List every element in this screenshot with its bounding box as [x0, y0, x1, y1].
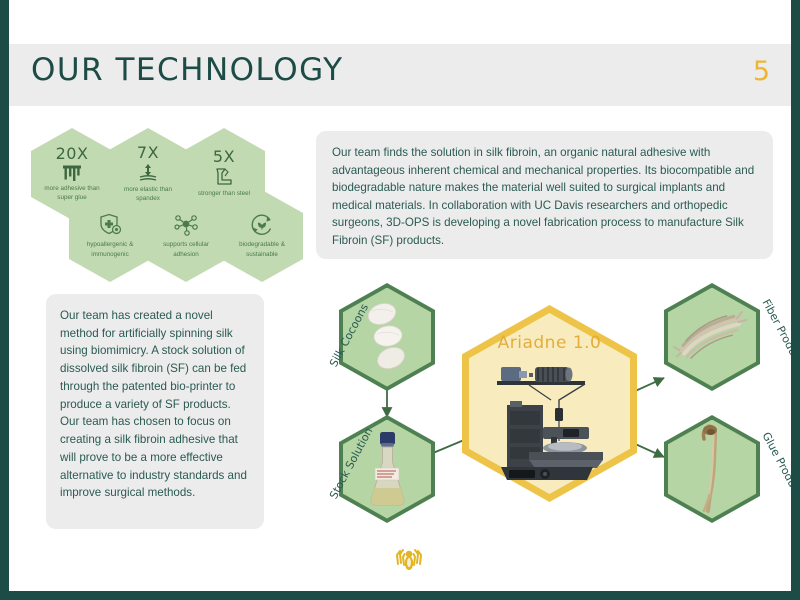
shield-medical-icon	[97, 213, 123, 237]
stat-caption: biodegradable & sustainable	[221, 240, 303, 258]
stat-value: 7X	[137, 145, 159, 161]
molecule-icon	[173, 213, 199, 237]
page-title: OUR TECHNOLOGY	[31, 52, 344, 88]
slide: OUR TECHNOLOGY 5 20X more adhesive than …	[0, 0, 800, 600]
process-diagram: Silk Cocoons Stock Solution Ariadne 1.0	[9, 275, 800, 540]
technology-description-text: Our team finds the solution in silk fibr…	[332, 146, 754, 247]
glue-drip-icon	[60, 164, 84, 182]
footer-logo-container	[9, 543, 800, 577]
ariadne-label: Ariadne 1.0	[462, 333, 637, 353]
stat-value: 20X	[56, 146, 89, 162]
steel-beam-icon	[212, 167, 236, 187]
stat-caption: hypoallergenic & immunogenic	[69, 240, 151, 258]
spider-logo	[392, 543, 426, 577]
stat-hexagon-cluster: 20X more adhesive than super glue 7X	[31, 128, 301, 283]
stat-caption: stronger than steel	[192, 190, 256, 199]
technology-description-panel: Our team finds the solution in silk fibr…	[316, 131, 773, 259]
leaf-recycle-icon	[249, 213, 275, 237]
stretch-arrow-icon	[136, 163, 160, 183]
diagram-node-ariadne-printer: Ariadne 1.0	[462, 305, 637, 502]
bio-printer-machine	[489, 353, 614, 481]
page-number: 5	[753, 56, 771, 87]
stat-caption: supports cellular adhesion	[145, 240, 227, 258]
stat-value: 5X	[213, 149, 235, 165]
